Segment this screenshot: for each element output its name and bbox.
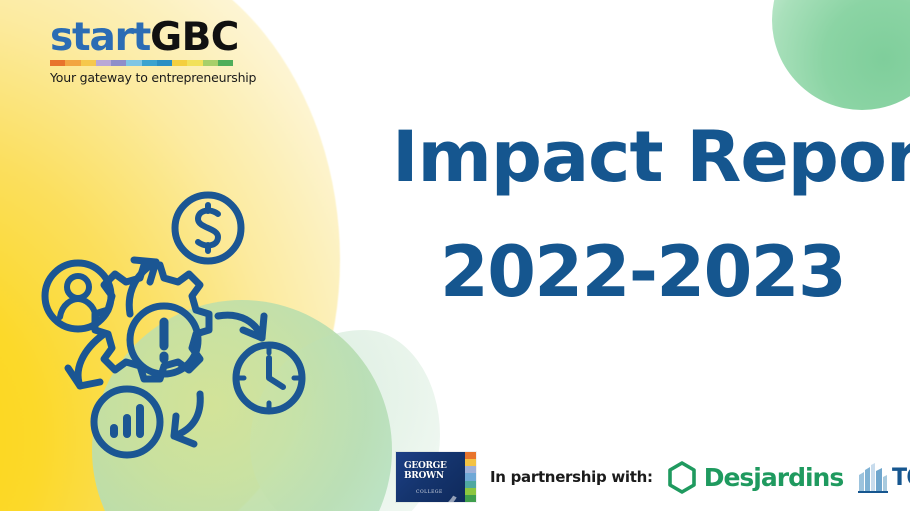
george-brown-line-2: BROWN bbox=[404, 472, 447, 482]
color-bar-segment bbox=[157, 60, 172, 66]
color-bar-segment bbox=[81, 60, 96, 66]
green-corner-blob-shape bbox=[772, 0, 910, 110]
color-bar-segment bbox=[218, 60, 233, 66]
desjardins-logo[interactable]: Desjardins bbox=[667, 461, 844, 494]
stripe-segment bbox=[465, 473, 476, 480]
toronto-wordmark: TORONTO bbox=[892, 463, 910, 491]
stripe-segment bbox=[465, 481, 476, 488]
george-brown-wordmark: GEORGE BROWN bbox=[404, 462, 447, 481]
business-cycle-illustration bbox=[22, 186, 322, 461]
startgbc-logo[interactable]: startGBC Your gateway to entrepreneurshi… bbox=[50, 18, 236, 85]
logo-word-gbc: GBC bbox=[150, 15, 239, 60]
stripe-segment bbox=[465, 466, 476, 473]
color-bar-segment bbox=[203, 60, 218, 66]
logo-color-bar bbox=[50, 60, 233, 66]
partners-footer: GEORGE BROWN COLLEGE In partnership with… bbox=[396, 449, 910, 505]
startgbc-wordmark: startGBC bbox=[50, 18, 236, 57]
partnership-label: In partnership with: bbox=[490, 468, 653, 486]
george-brown-line-3: COLLEGE bbox=[416, 490, 443, 495]
stripe-segment bbox=[465, 459, 476, 466]
george-brown-college-logo[interactable]: GEORGE BROWN COLLEGE bbox=[396, 452, 476, 502]
color-bar-segment bbox=[126, 60, 141, 66]
dollar-coin-icon bbox=[175, 195, 241, 261]
color-bar-segment bbox=[96, 60, 111, 66]
city-skyline-icon bbox=[857, 461, 889, 494]
page-title: Impact Report bbox=[392, 122, 902, 193]
color-bar-segment bbox=[142, 60, 157, 66]
george-brown-stripe-bar bbox=[465, 452, 476, 502]
city-of-toronto-logo[interactable]: TORONTO bbox=[857, 461, 910, 494]
clock-icon bbox=[236, 345, 302, 411]
george-brown-logo-box: GEORGE BROWN COLLEGE bbox=[396, 452, 465, 502]
headline-block: Impact Report 2022-2023 bbox=[392, 122, 892, 309]
color-bar-segment bbox=[65, 60, 80, 66]
logo-tagline: Your gateway to entrepreneurship bbox=[50, 70, 236, 85]
stripe-segment bbox=[465, 452, 476, 459]
person-profile-icon bbox=[45, 263, 111, 329]
hexagon-outline-icon bbox=[667, 461, 697, 494]
report-year-range: 2022-2023 bbox=[440, 237, 892, 308]
color-bar-segment bbox=[187, 60, 202, 66]
stripe-segment bbox=[465, 488, 476, 495]
desjardins-wordmark: Desjardins bbox=[704, 463, 844, 492]
color-bar-segment bbox=[50, 60, 65, 66]
impact-report-poster: startGBC Your gateway to entrepreneurshi… bbox=[0, 0, 910, 511]
color-bar-segment bbox=[172, 60, 187, 66]
color-bar-segment bbox=[111, 60, 126, 66]
bar-chart-icon bbox=[94, 389, 160, 455]
logo-word-start: start bbox=[50, 15, 150, 60]
stripe-segment bbox=[465, 495, 476, 502]
